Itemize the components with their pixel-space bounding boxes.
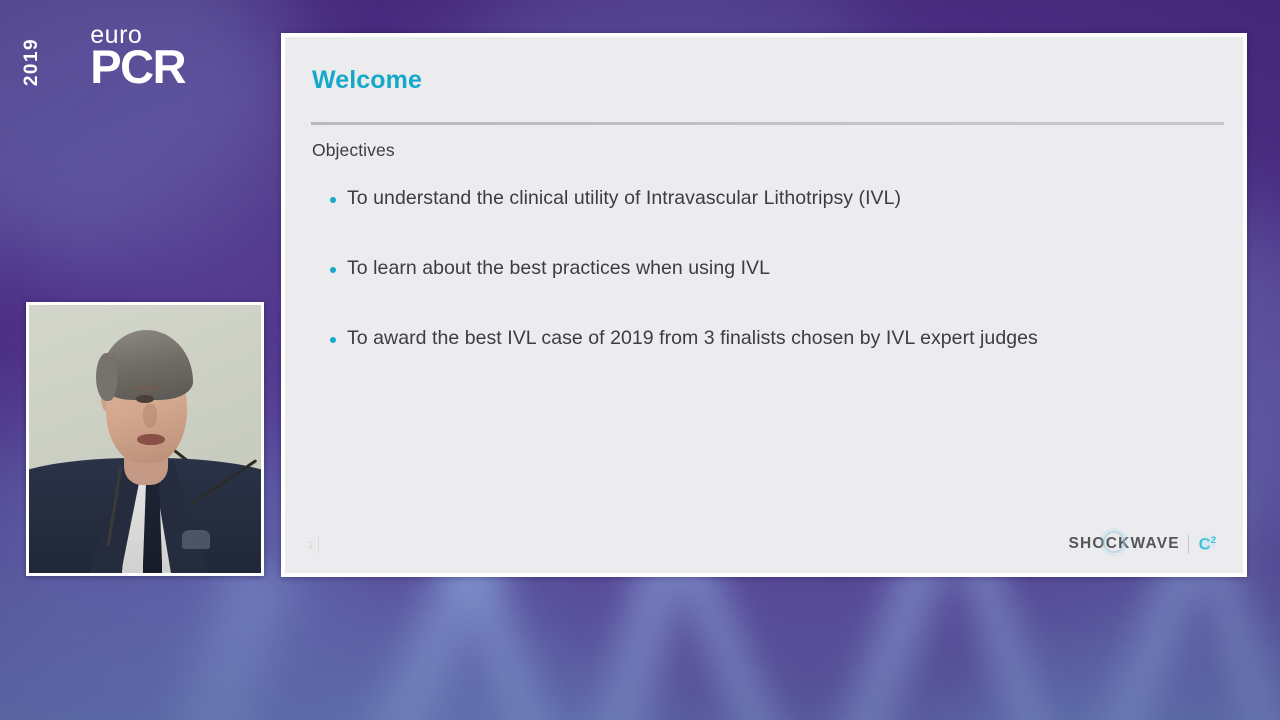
bullet-text: To learn about the best practices when u…	[347, 256, 770, 280]
europcr-logo: 2019 euro PCR	[30, 22, 180, 102]
slide-title-divider	[311, 122, 1224, 125]
speaker-video-thumbnail[interactable]	[26, 302, 264, 576]
list-item: To award the best IVL case of 2019 from …	[330, 326, 1217, 350]
bullet-dot-icon	[330, 197, 336, 203]
presentation-slide: Welcome Objectives To understand the cli…	[285, 37, 1243, 573]
logo-pcr-text: PCR	[90, 45, 185, 89]
shockwave-divider	[1188, 535, 1189, 554]
shockwave-wordmark: SHOCKWAVE	[1069, 535, 1180, 553]
shockwave-logo: SHOCKWAVE C2	[1069, 535, 1219, 555]
speaker-nose	[143, 404, 157, 428]
page-number-divider	[318, 536, 319, 553]
speaker-video-image	[29, 305, 261, 573]
logo-wordmark: euro PCR	[90, 22, 185, 89]
shockwave-c2-superscript: 2	[1211, 535, 1216, 546]
presentation-slide-frame: Welcome Objectives To understand the cli…	[281, 33, 1247, 577]
slide-page-number: 2	[308, 536, 319, 553]
list-item: To understand the clinical utility of In…	[330, 186, 1217, 210]
page-number-text: 2	[308, 540, 313, 550]
bullet-text: To understand the clinical utility of In…	[347, 186, 901, 210]
speaker-pocket-square	[182, 530, 210, 549]
bullet-dot-icon	[330, 337, 336, 343]
slide-subtitle: Objectives	[312, 140, 1217, 161]
bullet-text: To award the best IVL case of 2019 from …	[347, 326, 1038, 350]
list-item: To learn about the best practices when u…	[330, 256, 1217, 280]
speaker-mouth	[137, 434, 165, 446]
bullet-dot-icon	[330, 267, 336, 273]
shockwave-c2-letter: C	[1199, 535, 1211, 553]
logo-year-text: 2019	[22, 38, 42, 86]
shockwave-c2-mark: C2	[1197, 535, 1218, 555]
slide-bullet-list: To understand the clinical utility of In…	[330, 186, 1217, 350]
slide-title: Welcome	[312, 65, 1217, 95]
speaker-eyebrow	[131, 385, 161, 391]
speaker-sideburn	[96, 353, 117, 401]
